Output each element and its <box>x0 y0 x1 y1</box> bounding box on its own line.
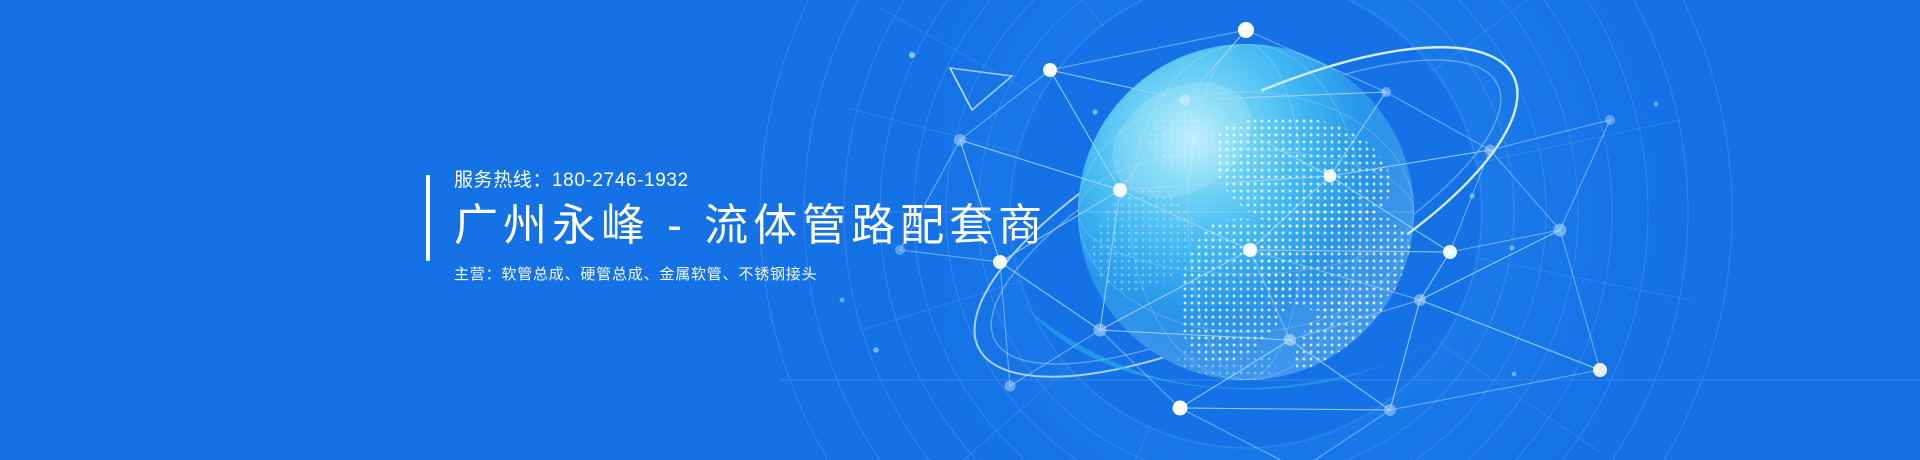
promotional-banner: 服务热线：180-2746-1932 广州永峰 - 流体管路配套商 主营：软管总… <box>0 0 1920 460</box>
triangle-marker <box>950 68 1012 110</box>
banner-text-block: 服务热线：180-2746-1932 广州永峰 - 流体管路配套商 主营：软管总… <box>426 168 1047 286</box>
globe-sphere <box>1078 44 1419 406</box>
service-hotline: 服务热线：180-2746-1932 <box>454 168 1047 194</box>
globe-meridians <box>1078 44 1414 380</box>
banner-headline: 广州永峰 - 流体管路配套商 <box>454 200 1047 252</box>
banner-subtitle: 主营：软管总成、硬管总成、金属软管、不锈钢接头 <box>454 264 1047 286</box>
globe-highlight <box>1092 59 1272 220</box>
globe-glow <box>940 0 1760 460</box>
orbit-ring-shadow <box>1020 280 1494 389</box>
continent-dots <box>1092 112 1418 406</box>
